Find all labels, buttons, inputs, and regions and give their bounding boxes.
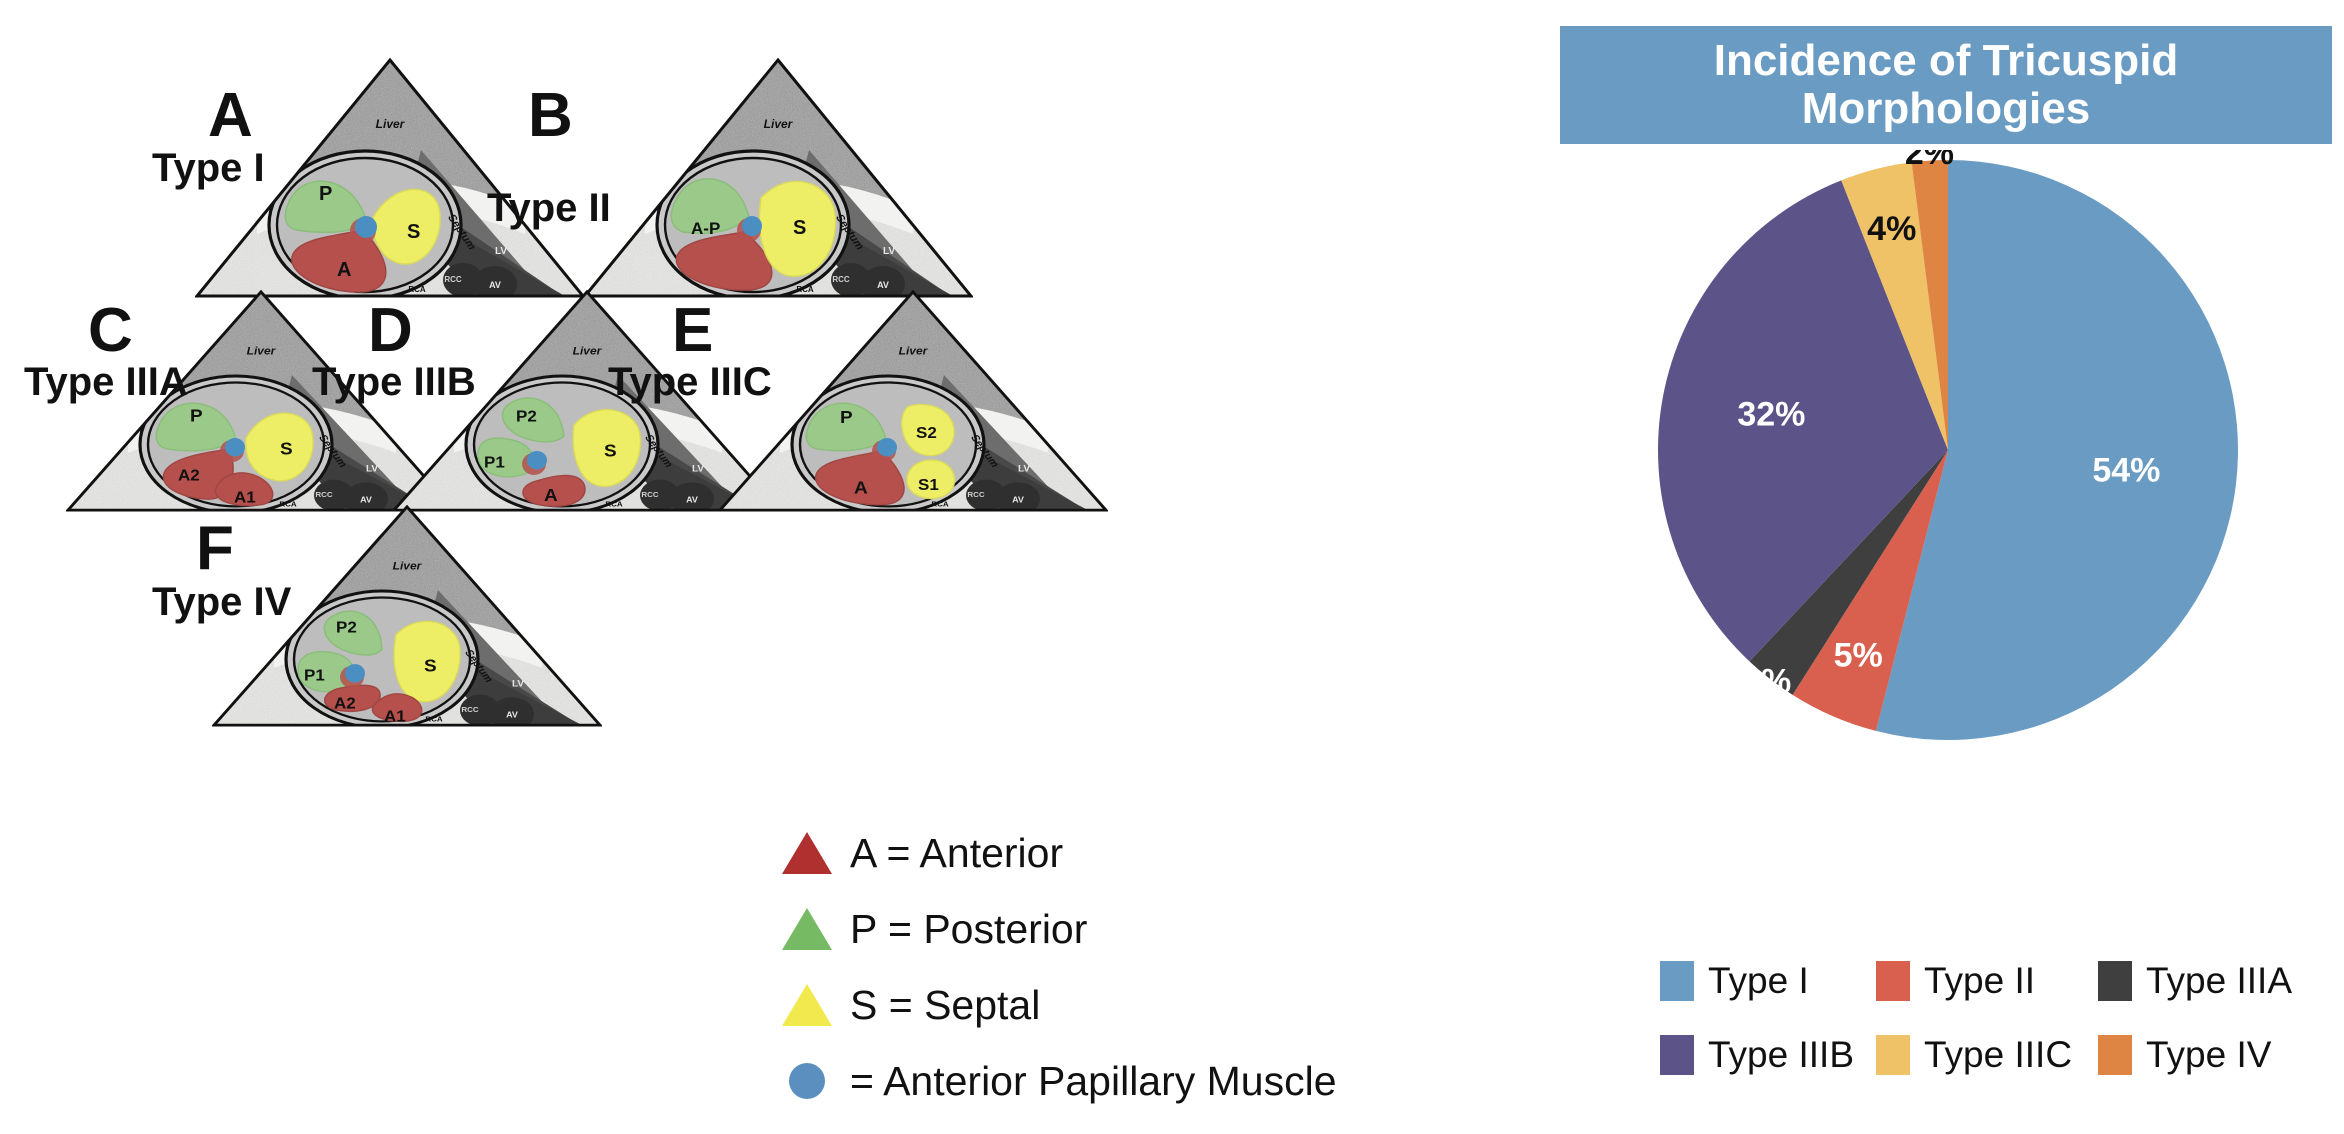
incidence-chart-card: Incidence of Tricuspid Morphologies 54%5… [1548, 0, 2344, 1134]
svg-text:S: S [604, 440, 617, 460]
svg-text:S1: S1 [918, 476, 939, 493]
svg-text:Liver: Liver [247, 346, 277, 358]
posterior-triangle-icon [770, 908, 844, 950]
legend-item[interactable]: Type IIIC [1876, 1034, 2098, 1076]
svg-text:LV: LV [1018, 464, 1031, 475]
panel-a-type-label: Type I [152, 148, 265, 188]
svg-text:AV: AV [686, 495, 698, 505]
legend-label: Type II [1910, 960, 2035, 1002]
panel-e-type-label: Type IIIC [608, 362, 772, 402]
figure-root: P S A Liver Septum LV RCC AV RCA A Type … [0, 0, 2344, 1134]
pie-slice-label: 54% [2092, 452, 2160, 490]
panel-e-triangle: P S2 S1 A Liver Septum LV RCC AV RCA [718, 290, 1108, 512]
svg-text:RCC: RCC [641, 490, 659, 499]
chart-title: Incidence of Tricuspid Morphologies [1591, 37, 2301, 132]
svg-text:A1: A1 [384, 708, 406, 725]
svg-text:P: P [319, 183, 332, 205]
panel-f-letter: F [196, 518, 233, 580]
pie-chart-svg: 54%5%3%32%4%2% [1648, 150, 2248, 750]
svg-text:RCA: RCA [425, 715, 443, 724]
panel-c-letter: C [88, 300, 132, 362]
pie-slice-group [1658, 160, 2238, 740]
legend-label: Type IV [2132, 1034, 2271, 1076]
svg-text:RCA: RCA [931, 500, 949, 509]
svg-text:P: P [840, 407, 853, 427]
pie-slice-label: 5% [1834, 637, 1883, 675]
valve-color-key: A = Anterior P = Posterior S = Septal = … [770, 815, 1470, 1119]
legend-item[interactable]: Type IV [2098, 1034, 2344, 1076]
pie-slice-label: 3% [1742, 663, 1791, 701]
panel-c-type-label: Type IIIA [24, 362, 188, 402]
panel-f-type-label: Type IV [152, 582, 291, 622]
svg-text:S2: S2 [916, 425, 937, 442]
svg-text:Liver: Liver [899, 346, 929, 358]
svg-text:AV: AV [489, 280, 501, 290]
svg-text:AV: AV [360, 495, 372, 505]
svg-text:RCC: RCC [967, 490, 985, 499]
panel-e-letter: E [672, 300, 712, 362]
svg-text:Liver: Liver [376, 117, 406, 131]
svg-text:RCC: RCC [461, 705, 479, 714]
svg-text:LV: LV [495, 246, 507, 257]
svg-text:P1: P1 [484, 454, 505, 471]
legend-label: Type I [1694, 960, 1809, 1002]
svg-text:A2: A2 [334, 695, 356, 712]
svg-text:Liver: Liver [573, 346, 603, 358]
panel-e: P S2 S1 A Liver Septum LV RCC AV RCA [718, 290, 1108, 512]
svg-text:A1: A1 [234, 489, 256, 506]
tricuspid-morphology-figure: P S A Liver Septum LV RCC AV RCA A Type … [0, 0, 1540, 1134]
legend-item[interactable]: Type I [1660, 960, 1876, 1002]
panel-d-letter: D [368, 300, 412, 362]
legend-swatch-icon [1660, 961, 1694, 1001]
panel-b-triangle: A-P S Liver Septum LV RCC AV RCA [583, 58, 973, 298]
key-item-posterior: P = Posterior [770, 891, 1470, 967]
svg-text:P1: P1 [304, 667, 325, 684]
legend-item[interactable]: Type IIIB [1660, 1034, 1876, 1076]
svg-text:A: A [337, 259, 351, 281]
papillary-muscle-circle-icon [770, 1063, 844, 1099]
svg-text:RCA: RCA [605, 500, 623, 509]
svg-text:AV: AV [506, 710, 518, 720]
pie-chart: 54%5%3%32%4%2% [1648, 150, 2248, 750]
key-label-posterior: P = Posterior [844, 906, 1087, 953]
septal-triangle-icon [770, 984, 844, 1026]
key-item-septal: S = Septal [770, 967, 1470, 1043]
pie-slice-label: 32% [1737, 395, 1805, 433]
panel-b-type-label: Type II [487, 188, 611, 228]
svg-text:Liver: Liver [764, 117, 794, 131]
svg-text:P: P [190, 405, 203, 425]
chart-title-bar: Incidence of Tricuspid Morphologies [1560, 26, 2332, 144]
pie-slice-label: 4% [1867, 210, 1916, 248]
svg-text:Liver: Liver [393, 561, 423, 573]
svg-text:LV: LV [512, 679, 525, 690]
key-label-papillary-muscle: = Anterior Papillary Muscle [844, 1058, 1337, 1105]
legend-label: Type IIIB [1694, 1034, 1854, 1076]
svg-text:S: S [280, 438, 293, 458]
svg-text:RCC: RCC [832, 275, 850, 284]
legend-label: Type IIIA [2132, 960, 2292, 1002]
legend-label: Type IIIC [1910, 1034, 2072, 1076]
svg-text:LV: LV [883, 246, 895, 257]
svg-text:P2: P2 [516, 408, 537, 425]
svg-text:A-P: A-P [691, 219, 720, 238]
svg-text:AV: AV [1012, 495, 1024, 505]
panel-b-letter: B [528, 85, 572, 147]
key-label-septal: S = Septal [844, 982, 1040, 1029]
svg-text:RCC: RCC [315, 490, 333, 499]
svg-text:LV: LV [692, 464, 705, 475]
anterior-triangle-icon [770, 832, 844, 874]
pie-slice-label: 2% [1905, 150, 1954, 172]
legend-swatch-icon [1660, 1035, 1694, 1075]
svg-text:A2: A2 [178, 467, 200, 484]
svg-text:S: S [424, 655, 437, 675]
legend-swatch-icon [1876, 961, 1910, 1001]
legend-swatch-icon [1876, 1035, 1910, 1075]
panel-d-type-label: Type IIIB [312, 362, 476, 402]
key-item-anterior: A = Anterior [770, 815, 1470, 891]
legend-item[interactable]: Type IIIA [2098, 960, 2344, 1002]
legend-item[interactable]: Type II [1876, 960, 2098, 1002]
svg-text:LV: LV [366, 464, 379, 475]
chart-legend: Type IType IIType IIIAType IIIBType IIIC… [1660, 960, 2344, 1076]
svg-text:P2: P2 [336, 619, 357, 636]
svg-text:AV: AV [877, 280, 889, 290]
panel-a-letter: A [208, 85, 252, 147]
svg-text:S: S [407, 221, 420, 243]
legend-swatch-icon [2098, 1035, 2132, 1075]
key-item-papillary-muscle: = Anterior Papillary Muscle [770, 1043, 1470, 1119]
svg-text:A: A [544, 485, 558, 505]
svg-text:S: S [793, 217, 806, 239]
svg-text:A: A [854, 477, 868, 497]
svg-text:RCC: RCC [444, 275, 462, 284]
panel-b: A-P S Liver Septum LV RCC AV RCA [583, 58, 973, 298]
legend-swatch-icon [2098, 961, 2132, 1001]
key-label-anterior: A = Anterior [844, 830, 1063, 877]
